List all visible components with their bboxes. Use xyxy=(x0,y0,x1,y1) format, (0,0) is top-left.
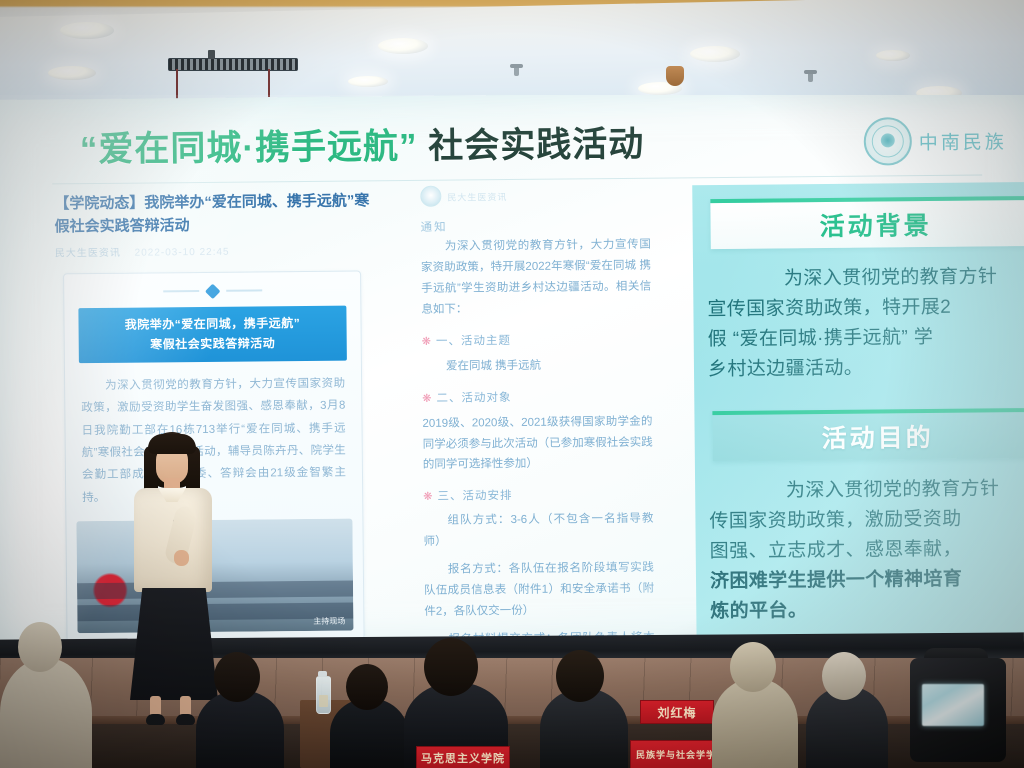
news-timestamp: 2022-03-10 22:45 xyxy=(135,247,230,259)
news-source: 民大生医资讯 xyxy=(55,248,121,260)
notice-section-heading: ❋ 三、活动安排 xyxy=(423,486,653,504)
purpose-section-title: 活动目的 xyxy=(821,418,933,455)
ceiling-downlight xyxy=(348,76,388,87)
purpose-section-body-bold: 济困难学生提供一个精神培育 炼的平台。 xyxy=(710,564,1024,627)
placard-label: 刘红梅 xyxy=(657,704,696,721)
scene-root: “爱在同城·携手远航” 社会实践活动 中南民族 【学院动态】我院举办“爱在同城、… xyxy=(0,0,1024,768)
notice-section-heading: ❋ 二、活动对象 xyxy=(422,387,652,405)
lighting-truss xyxy=(168,58,298,71)
slide-title-rest: 社会实践活动 xyxy=(417,125,644,166)
ceiling-downlight xyxy=(876,50,910,61)
notice-section-item: 组队方式：3-6人（不包含一名指导教师） xyxy=(423,509,653,553)
background-section-title: 活动背景 xyxy=(819,206,931,243)
slide-title: “爱在同城·携手远航” 社会实践活动 xyxy=(80,114,840,172)
ceiling-downlight xyxy=(378,38,428,54)
presenter-fringe xyxy=(148,434,196,454)
audience-head xyxy=(556,650,604,702)
news-meta: 民大生医资讯 2022-03-10 22:45 xyxy=(55,241,375,259)
news-banner-line1: 我院举办“爱在同城，携手远航” xyxy=(82,313,342,336)
video-camera xyxy=(900,648,1018,768)
truss-rod xyxy=(268,69,270,97)
background-section-header: 活动背景 xyxy=(710,196,1024,249)
bottle-cap xyxy=(318,671,327,677)
flower-marker-icon: ❋ xyxy=(422,334,432,347)
news-banner: 我院举办“爱在同城，携手远航” 寒假社会实践答辩活动 xyxy=(78,306,347,363)
presenter-shoe xyxy=(176,714,195,725)
ornament-bar-right xyxy=(226,289,262,291)
flower-marker-icon: ❋ xyxy=(423,490,433,503)
highlight-panel: 活动背景 为深入贯彻党的教育方针 宣传国家资助政策，特开展2 假 “爱在同城·携… xyxy=(692,182,1024,645)
section-heading-text: 一、活动主题 xyxy=(436,332,511,349)
placard-label: 马克思主义学院 xyxy=(421,750,505,766)
university-name: 中南民族 xyxy=(919,127,1007,155)
water-bottle xyxy=(316,676,331,714)
audience-head xyxy=(730,642,776,692)
sprinkler-head xyxy=(808,70,813,82)
flower-marker-icon: ❋ xyxy=(422,391,432,404)
account-name: 民大生医资讯 xyxy=(447,192,507,203)
news-photo-caption: 主持现场 xyxy=(313,616,345,627)
audience-head xyxy=(822,652,866,700)
section-heading-text: 三、活动安排 xyxy=(437,487,512,504)
background-section-body: 为深入贯彻党的教育方针 宣传国家资助政策，特开展2 假 “爱在同城·携手远航” … xyxy=(707,262,1024,385)
presenter-shoe xyxy=(146,714,165,725)
diamond-icon xyxy=(204,283,220,299)
news-banner-line2: 寒假社会实践答辩活动 xyxy=(83,333,343,356)
audience-head xyxy=(214,652,260,702)
ceiling-downlight xyxy=(48,66,96,80)
camera-lcd-screen xyxy=(922,684,984,726)
audience-placard: 刘红梅 xyxy=(640,700,714,724)
notice-section-heading: ❋ 一、活动主题 xyxy=(422,330,652,348)
news-headline: 【学院动态】我院举办“爱在同城、携手远航”寒假社会实践答辩活动 xyxy=(54,190,374,238)
notice-section-item: 报名方式：各队伍在报名阶段填写实践队伍成员信息表（附件1）和安全承诺书（附件2，… xyxy=(424,558,655,623)
notice-lead: 为深入贯彻党的教育方针，大力宣传国家资助政策，特开展2022年寒假“爱在同城 携… xyxy=(421,235,652,321)
ceiling-downlight xyxy=(60,22,114,39)
avatar xyxy=(420,186,441,207)
card-ornament xyxy=(64,281,360,300)
purpose-section-body: 为深入贯彻党的教育方针 传国家资助政策，激励受资助 图强、立志成才、感恩奉献， xyxy=(709,474,1024,567)
notice-column: 民大生医资讯 通知 为深入贯彻党的教育方针，大力宣传国家资助政策，特开展2022… xyxy=(420,184,655,650)
account-row: 民大生医资讯 xyxy=(420,184,650,207)
audience-placard: 马克思主义学院 xyxy=(416,746,510,768)
presenter-skirt xyxy=(130,588,218,700)
audience-member xyxy=(0,658,92,768)
notice-section-text: 爱在同城 携手远航 xyxy=(422,354,652,377)
audience-head xyxy=(424,638,478,696)
university-logo: 中南民族 xyxy=(864,116,1007,165)
section-heading-text: 二、活动对象 xyxy=(436,389,511,406)
slide-title-quoted: “爱在同城·携手远航” xyxy=(80,127,418,169)
notice-label: 通知 xyxy=(421,217,651,235)
purpose-section-header: 活动目的 xyxy=(712,408,1024,461)
audience-head xyxy=(18,622,62,672)
smoke-detector xyxy=(666,66,684,86)
ceiling-downlight xyxy=(690,46,740,62)
university-seal-icon xyxy=(864,117,912,165)
presenter xyxy=(118,432,228,724)
ornament-bar-left xyxy=(163,290,199,292)
notice-section-text: 2019级、2020级、2021级获得国家助学金的同学必须参与此次活动（已参加寒… xyxy=(422,411,653,476)
sprinkler-head xyxy=(514,64,519,76)
audience-head xyxy=(346,664,388,710)
truss-mount xyxy=(208,50,215,59)
presenter-hand xyxy=(174,550,189,566)
